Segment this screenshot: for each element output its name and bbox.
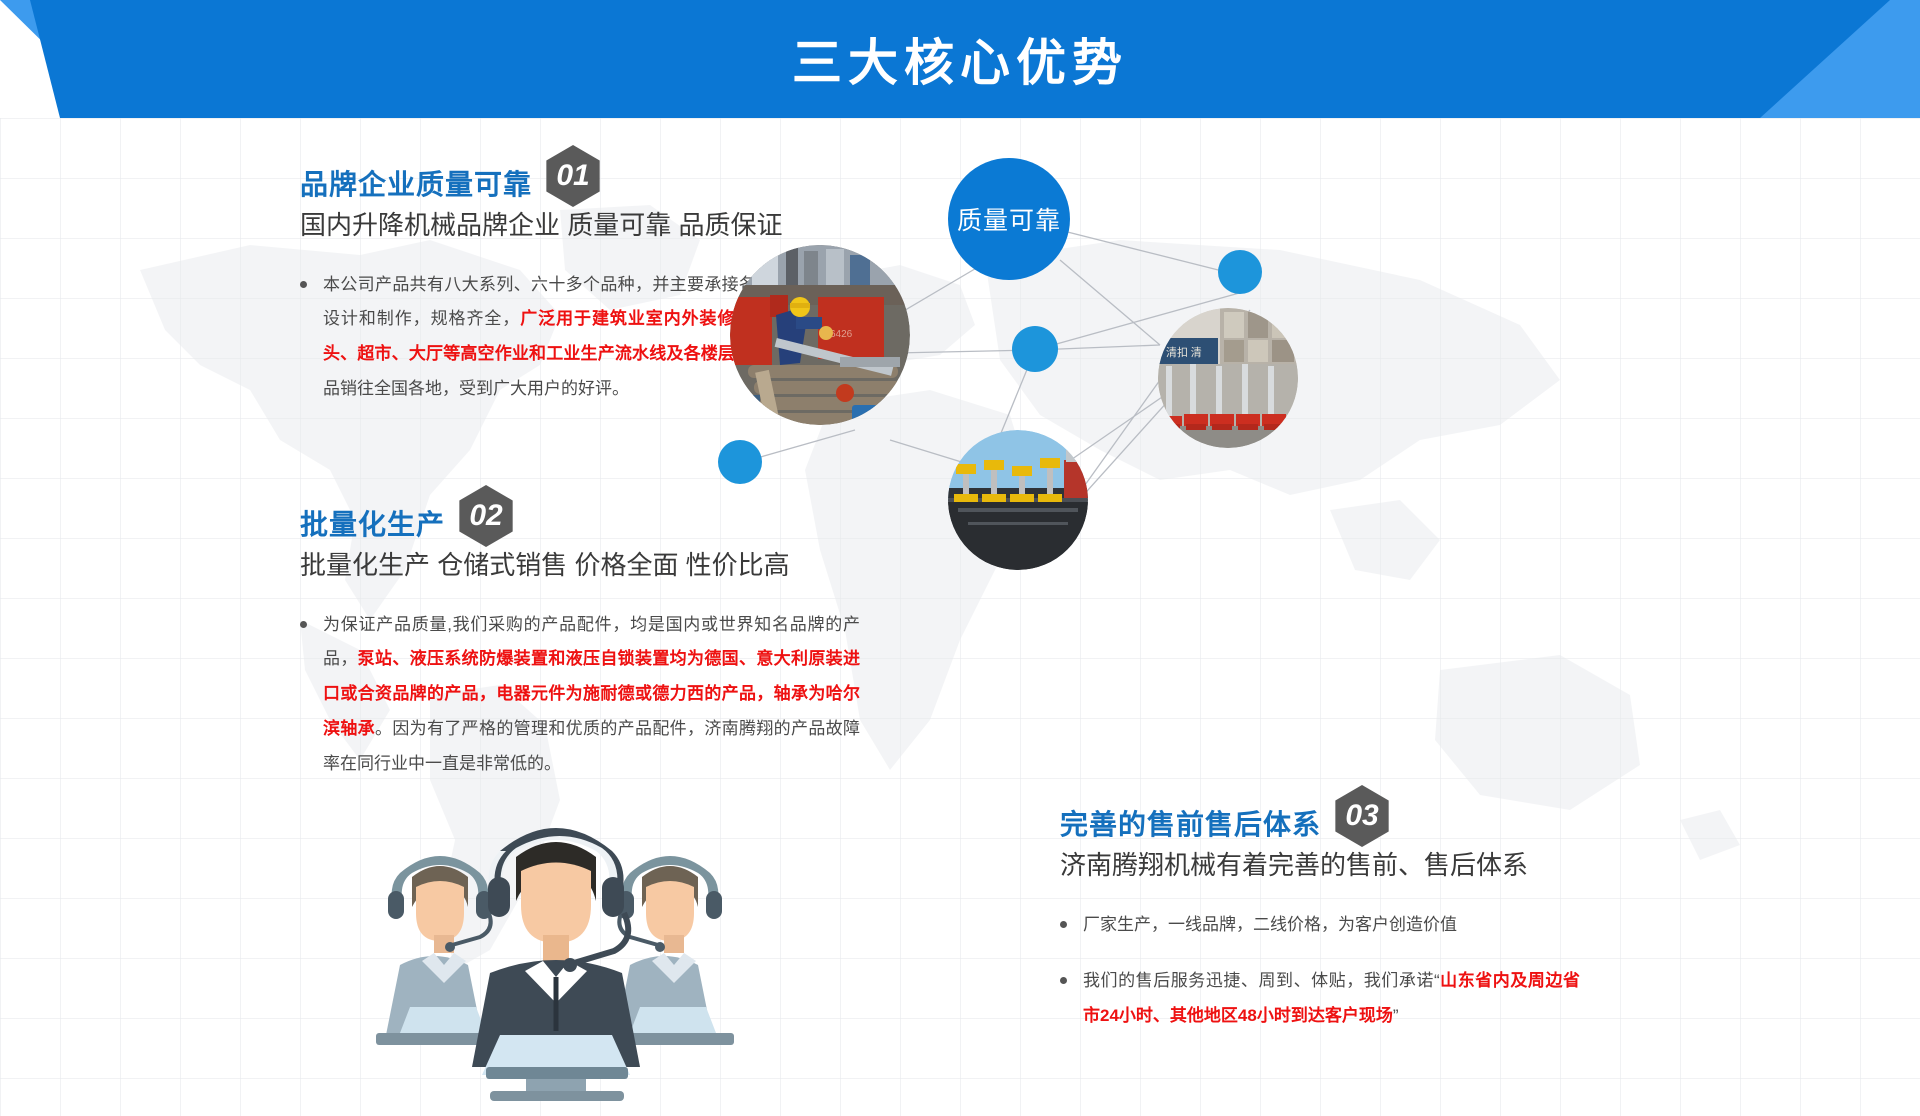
svg-text:清扣 清: 清扣 清 <box>1166 345 1202 359</box>
feature-03-header: 完善的售前售后体系 03 <box>1060 785 1580 839</box>
node-cyan-center <box>1012 326 1058 372</box>
page-title: 三大核心优势 <box>0 0 1920 118</box>
bullet-dot-icon <box>1060 921 1067 928</box>
bullet-dot-icon <box>300 281 307 288</box>
feature-02-bullet-text: 为保证产品质量,我们采购的产品配件，均是国内或世界知名品牌的产品，泵站、液压系统… <box>323 608 860 782</box>
node-cyan-right <box>1218 250 1262 294</box>
list-item: 厂家生产，一线品牌，二线价格，为客户创造价值 <box>1060 908 1580 943</box>
feature-01-number-badge: 01 <box>542 145 604 207</box>
feature-03-title: 完善的售前售后体系 <box>1060 811 1321 839</box>
call-center-agents-illustration <box>340 795 770 1105</box>
feature-02-bullets: 为保证产品质量,我们采购的产品配件，均是国内或世界知名品牌的产品，泵站、液压系统… <box>300 608 860 782</box>
feature-03-number-badge: 03 <box>1331 785 1393 847</box>
node-cyan-left <box>718 440 762 484</box>
bullet-dot-icon <box>1060 977 1067 984</box>
center-desk <box>482 1035 630 1101</box>
feature-01-title: 品牌企业质量可靠 <box>300 171 532 199</box>
feature-03-bullet-text-2: 我们的售后服务迅捷、周到、体贴，我们承诺“山东省内及周边省市24小时、其他地区4… <box>1083 964 1580 1034</box>
quality-node-label: 质量可靠 <box>957 201 1061 237</box>
aerial-work-platforms-photo <box>948 430 1088 570</box>
quality-node-badge: 质量可靠 <box>948 158 1070 280</box>
feature-03-bullet-text-1: 厂家生产，一线品牌，二线价格，为客户创造价值 <box>1083 908 1457 943</box>
feature-03-subtitle: 济南腾翔机械有着完善的售前、售后体系 <box>1060 849 1580 882</box>
feature-02-title: 批量化生产 <box>300 511 445 539</box>
lift-platform-showroom-photo: 清扣 清 <box>1158 308 1298 448</box>
page-banner: 三大核心优势 <box>0 0 1920 118</box>
list-item: 为保证产品质量,我们采购的产品配件，均是国内或世界知名品牌的产品，泵站、液压系统… <box>300 608 860 782</box>
list-item: 我们的售后服务迅捷、周到、体贴，我们承诺“山东省内及周边省市24小时、其他地区4… <box>1060 964 1580 1034</box>
bullet-dot-icon <box>300 621 307 628</box>
svg-text:6426: 6426 <box>830 329 853 340</box>
feature-block-03: 完善的售前售后体系 03 济南腾翔机械有着完善的售前、售后体系 厂家生产，一线品… <box>1060 785 1580 1056</box>
network-diagram: 质量可靠 6426 <box>690 140 1310 570</box>
agent-center <box>472 828 640 1067</box>
factory-cutting-machine-photo: 6426 <box>730 245 910 425</box>
feature-03-bullets: 厂家生产，一线品牌，二线价格，为客户创造价值 我们的售后服务迅捷、周到、体贴，我… <box>1060 908 1580 1035</box>
feature-02-number-badge: 02 <box>455 485 517 547</box>
